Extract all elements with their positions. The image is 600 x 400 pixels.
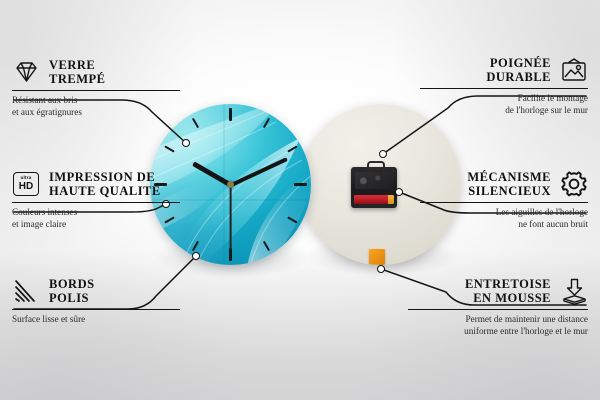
feature-divider xyxy=(420,202,588,203)
feature-verre-trempe: VERRE TREMPÉ Résistant aux bris et aux é… xyxy=(12,58,180,118)
feature-divider xyxy=(12,90,180,91)
feature-title: IMPRESSION DE HAUTE QUALITÉ xyxy=(49,170,161,198)
feature-impression-haute-qualite: ultra HD IMPRESSION DE HAUTE QUALITÉ Cou… xyxy=(12,170,180,230)
picture-hanger-icon xyxy=(560,56,588,84)
feature-subtitle: Les aiguilles de l'horloge ne font aucun… xyxy=(420,207,588,229)
feature-header: VERRE TREMPÉ xyxy=(12,58,180,86)
feature-header: POIGNÉE DURABLE xyxy=(420,56,588,84)
clock-center-cap xyxy=(227,181,234,188)
feature-title: BORDS POLIS xyxy=(49,277,95,305)
foam-spacer-arrow-icon xyxy=(560,277,588,305)
feature-subtitle: Facilite le montage de l'horloge sur le … xyxy=(420,93,588,115)
battery xyxy=(354,195,394,204)
gear-icon xyxy=(560,170,588,198)
feature-mecanisme-silencieux: MÉCANISME SILENCIEUX Les aiguilles de l'… xyxy=(420,170,588,230)
feature-subtitle: Permet de maintenir une distance uniform… xyxy=(408,314,588,336)
feature-bords-polis: BORDS POLIS Surface lisse et sûre xyxy=(12,277,180,326)
infographic-canvas: VERRE TREMPÉ Résistant aux bris et aux é… xyxy=(0,0,600,400)
feature-title: ENTRETOISE EN MOUSSE xyxy=(465,277,551,305)
mechanism-hanger-icon xyxy=(367,161,385,172)
feature-subtitle: Couleurs intenses et image claire xyxy=(12,207,180,229)
feature-poignee-durable: POIGNÉE DURABLE Facilite le montage de l… xyxy=(420,56,588,116)
feature-header: BORDS POLIS xyxy=(12,277,180,305)
leader-node-bords-polis xyxy=(192,252,200,260)
feature-divider xyxy=(408,309,588,310)
foam-spacer xyxy=(369,249,385,265)
feature-title: VERRE TREMPÉ xyxy=(49,58,105,86)
mechanism-detail xyxy=(355,172,393,189)
leader-node-verre-trempe xyxy=(182,139,190,147)
feature-title: MÉCANISME SILENCIEUX xyxy=(467,170,551,198)
feature-divider xyxy=(12,309,180,310)
ultra-hd-badge-icon: ultra HD xyxy=(12,170,40,198)
leader-node-poignee xyxy=(379,150,387,158)
leader-node-entretoise xyxy=(377,265,385,273)
feature-divider xyxy=(12,202,180,203)
feature-header: ENTRETOISE EN MOUSSE xyxy=(408,277,588,305)
feature-entretoise-en-mousse: ENTRETOISE EN MOUSSE Permet de maintenir… xyxy=(408,277,588,337)
polished-edge-lines-icon xyxy=(12,277,40,305)
feature-subtitle: Résistant aux bris et aux égratignures xyxy=(12,95,180,117)
feature-header: MÉCANISME SILENCIEUX xyxy=(420,170,588,198)
feature-divider xyxy=(420,88,588,89)
clock-mechanism xyxy=(351,167,397,208)
leader-node-mecanisme xyxy=(395,188,403,196)
ultra-hd-badge-main-text: HD xyxy=(19,182,33,192)
feature-title: POIGNÉE DURABLE xyxy=(486,56,551,84)
feature-subtitle: Surface lisse et sûre xyxy=(12,314,180,325)
diamond-icon xyxy=(12,58,40,86)
feature-header: ultra HD IMPRESSION DE HAUTE QUALITÉ xyxy=(12,170,180,198)
clock-hand-second xyxy=(230,185,232,251)
